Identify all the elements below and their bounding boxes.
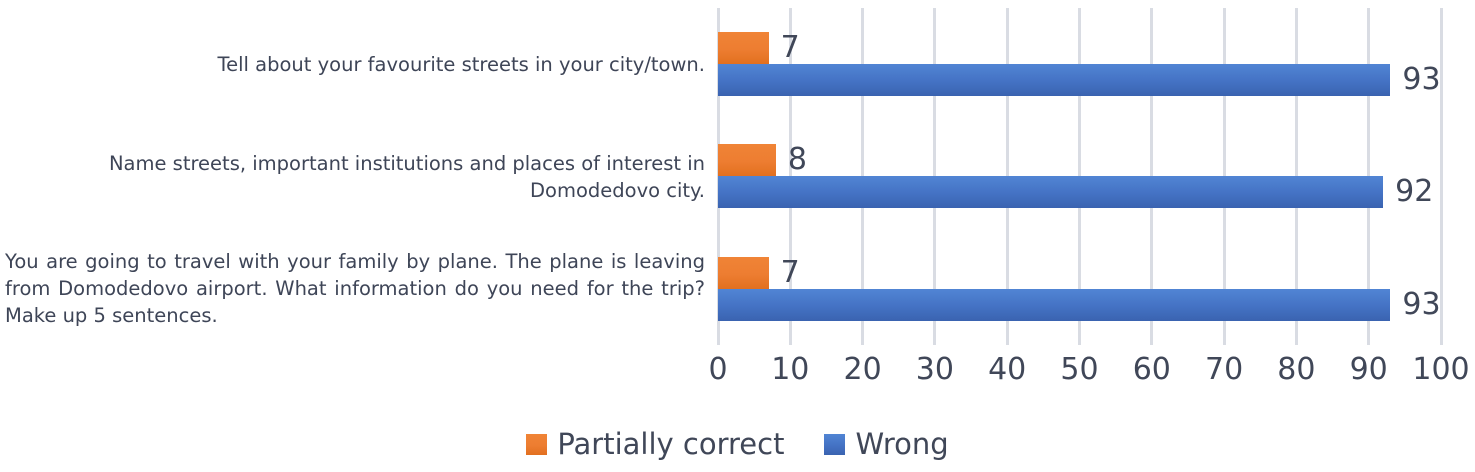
x-tick-label: 90 <box>1350 352 1388 388</box>
bar-value-label: 92 <box>1395 177 1433 207</box>
x-tick-label: 50 <box>1060 352 1098 388</box>
legend-item-wrong[interactable]: Wrong <box>824 430 948 459</box>
x-tick-label: 100 <box>1412 352 1469 388</box>
x-tick-label: 70 <box>1205 352 1243 388</box>
legend-label: Wrong <box>855 430 948 459</box>
bar-track: 7 <box>718 32 1441 64</box>
bar-value-label: 93 <box>1402 65 1440 95</box>
bar-track: 8 <box>718 144 1441 176</box>
bar-partially-correct[interactable] <box>718 257 769 289</box>
legend-swatch-icon <box>824 434 845 455</box>
category-label: You are going to travel with your family… <box>5 248 705 329</box>
plot-area: 793892793 <box>718 8 1441 345</box>
bar-track: 93 <box>718 289 1441 321</box>
x-tick-label: 10 <box>771 352 809 388</box>
bar-group: 793 <box>718 233 1441 345</box>
legend-label: Partially correct <box>557 430 784 459</box>
bar-wrong[interactable] <box>718 289 1390 321</box>
bar-value-label: 93 <box>1402 290 1440 320</box>
bar-group: 793 <box>718 8 1441 120</box>
bar-value-label: 8 <box>788 145 807 175</box>
legend-swatch-icon <box>526 434 547 455</box>
x-tick-label: 20 <box>844 352 882 388</box>
bar-track: 7 <box>718 257 1441 289</box>
bar-partially-correct[interactable] <box>718 144 776 176</box>
category-label: Tell about your favourite streets in you… <box>5 51 705 78</box>
x-tick-label: 60 <box>1133 352 1171 388</box>
x-tick-label: 40 <box>988 352 1026 388</box>
x-tick-label: 80 <box>1277 352 1315 388</box>
bar-chart: 793892793 Tell about your favourite stre… <box>0 0 1475 472</box>
bar-wrong[interactable] <box>718 176 1383 208</box>
x-tick-label: 30 <box>916 352 954 388</box>
bar-track: 92 <box>718 176 1441 208</box>
category-label: Name streets, important institutions and… <box>5 150 705 204</box>
bar-track: 93 <box>718 64 1441 96</box>
bar-value-label: 7 <box>781 33 800 63</box>
x-tick-label: 0 <box>708 352 727 388</box>
bar-value-label: 7 <box>781 258 800 288</box>
bar-partially-correct[interactable] <box>718 32 769 64</box>
legend-item-partially-correct[interactable]: Partially correct <box>526 430 784 459</box>
bar-wrong[interactable] <box>718 64 1390 96</box>
x-axis: 0102030405060708090100 <box>718 352 1441 392</box>
legend: Partially correctWrong <box>0 430 1475 459</box>
bar-group: 892 <box>718 120 1441 232</box>
